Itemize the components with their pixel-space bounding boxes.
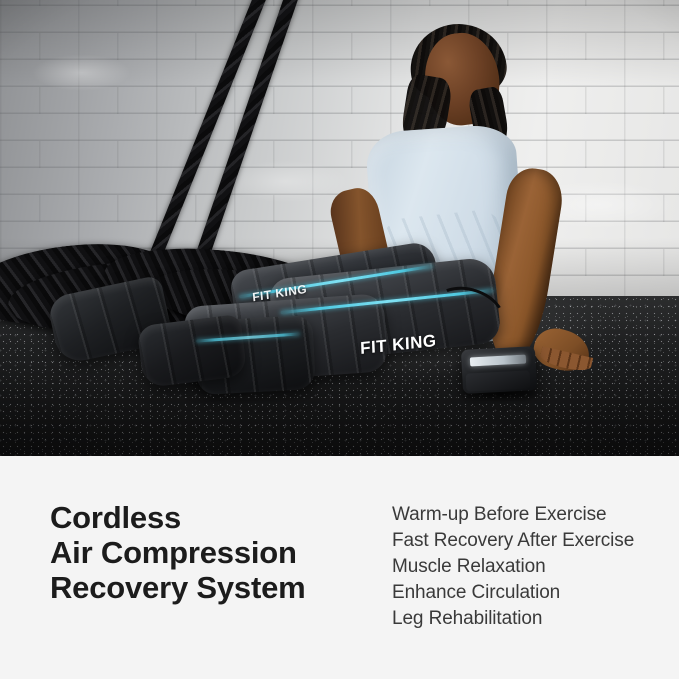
control-unit-base xyxy=(466,370,531,391)
model-person xyxy=(0,0,679,456)
benefit-item: Enhance Circulation xyxy=(392,580,634,606)
text-panel: Cordless Air Compression Recovery System… xyxy=(0,456,679,679)
benefits-list: Warm-up Before Exercise Fast Recovery Af… xyxy=(392,502,634,632)
product-lifestyle-photo: FIT KING FIT KING xyxy=(0,0,679,456)
product-marketing-image: FIT KING FIT KING Cordless Air Compressi… xyxy=(0,0,679,679)
benefit-item: Leg Rehabilitation xyxy=(392,606,634,632)
compression-sleeve-foot-right xyxy=(137,314,248,388)
benefit-item: Warm-up Before Exercise xyxy=(392,502,634,528)
benefit-item: Fast Recovery After Exercise xyxy=(392,528,634,554)
headline-line-1: Cordless xyxy=(50,500,306,535)
air-chamber-baffles xyxy=(137,314,248,388)
headline-line-2: Air Compression xyxy=(50,535,306,570)
headline-line-3: Recovery System xyxy=(50,570,306,605)
product-headline: Cordless Air Compression Recovery System xyxy=(50,500,306,605)
benefit-item: Muscle Relaxation xyxy=(392,554,634,580)
